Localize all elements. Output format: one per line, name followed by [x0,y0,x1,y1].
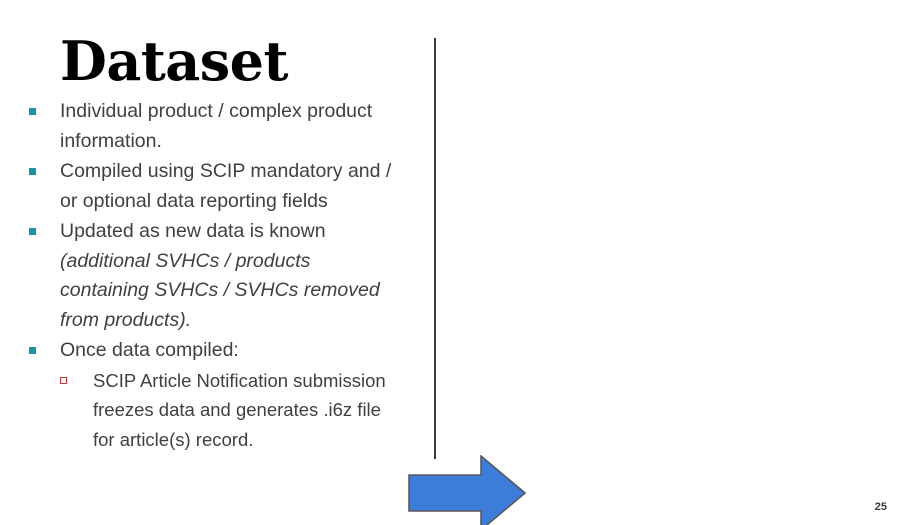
right-arrow-icon [408,455,526,525]
list-item-text: Individual product / complex product inf… [60,100,372,152]
list-item: Individual product / complex product inf… [29,97,399,156]
bullet-square-icon [29,108,36,115]
left-bullet-list: Individual product / complex product inf… [29,97,399,455]
left-sub-bullet-list: SCIP Article Notification submission fre… [60,366,399,455]
bullet-square-icon [29,228,36,235]
sub-bullet-square-icon [60,377,67,384]
left-column-title: Dataset [60,33,288,90]
slide-canvas: Dataset Individual product / complex pro… [0,0,897,525]
list-item: Once data compiled: SCIP Article Notific… [29,336,399,454]
page-number: 25 [875,501,887,513]
list-item: Compiled using SCIP mandatory and / or o… [29,157,399,216]
column-divider-line [434,38,436,459]
list-item-text: Updated as new data is known [60,220,326,242]
list-item-text: Compiled using SCIP mandatory and / or o… [60,160,391,212]
bullet-square-icon [29,168,36,175]
sub-list-item-text: SCIP Article Notification submission fre… [93,370,386,450]
list-item-text: Once data compiled: [60,339,239,361]
list-item: Updated as new data is known (additional… [29,217,399,335]
list-item-italic-note: (additional SVHCs / products containing … [60,250,380,331]
bullet-square-icon [29,347,36,354]
sub-list-item: SCIP Article Notification submission fre… [60,366,399,455]
